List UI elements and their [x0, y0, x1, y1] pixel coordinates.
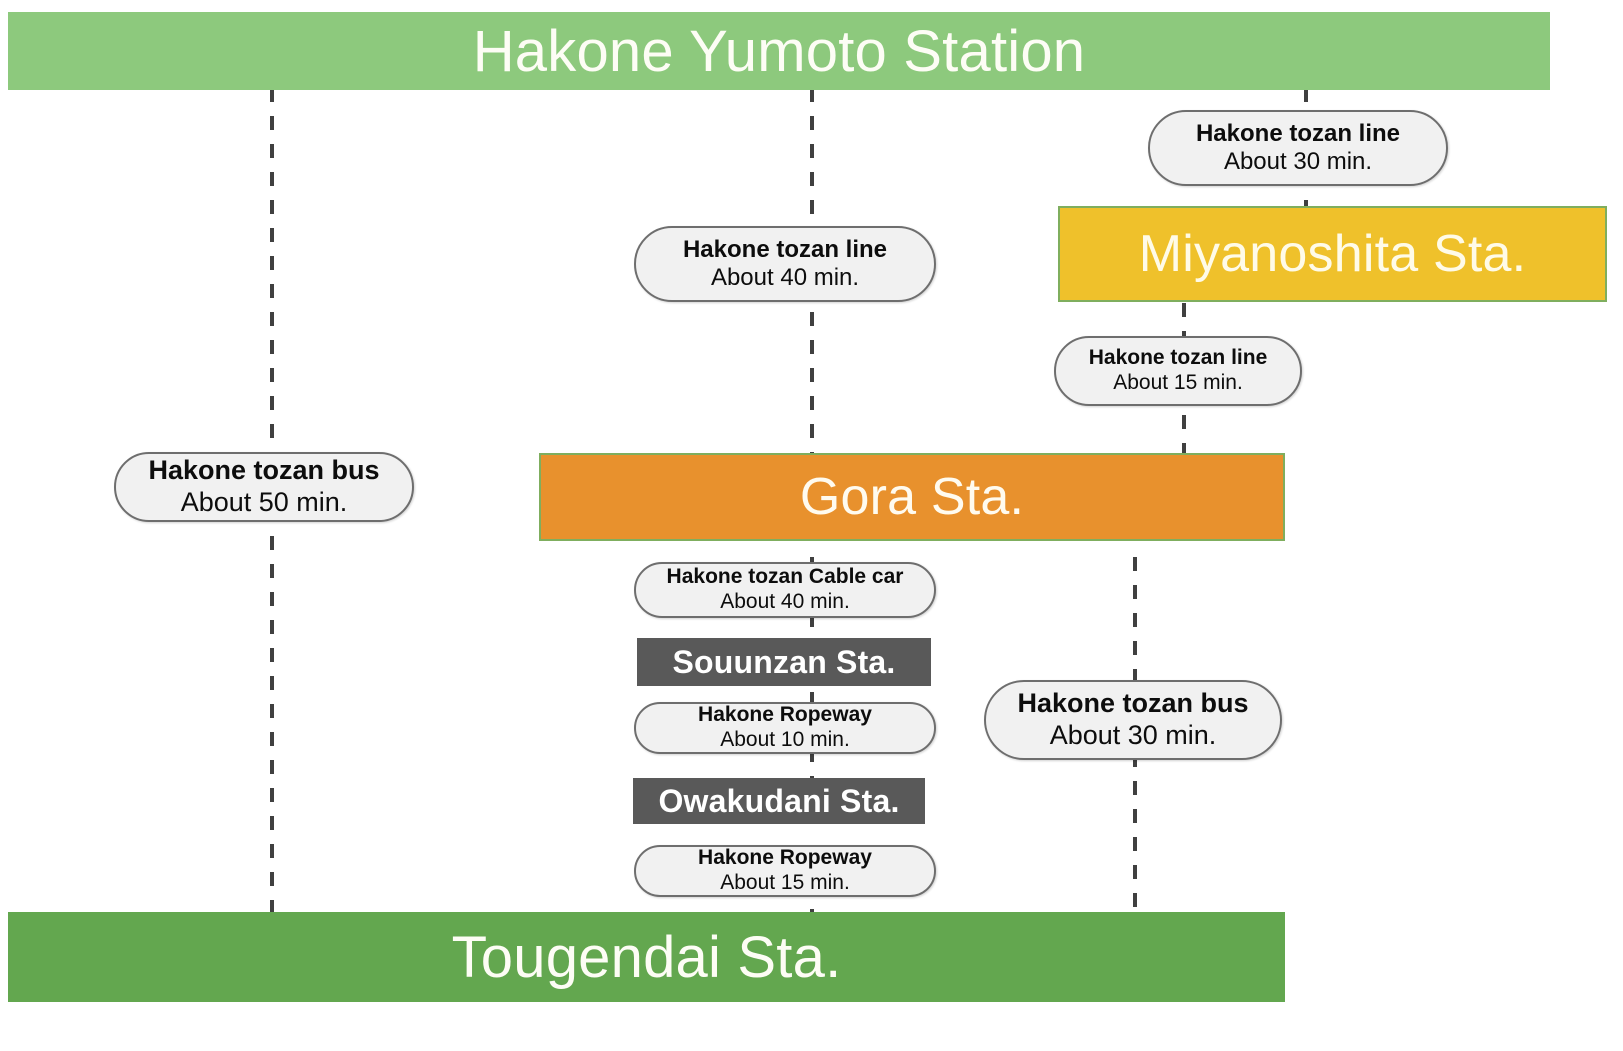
leg-mode-label: Hakone tozan bus — [1017, 688, 1248, 720]
leg-mode-label: Hakone tozan Cable car — [667, 565, 904, 590]
leg-duration-label: About 50 min. — [181, 487, 348, 519]
station-souunzan-label: Souunzan Sta. — [672, 644, 895, 681]
hakone-route-diagram: Hakone Yumoto Station Hakone tozan line … — [0, 0, 1623, 1051]
leg-mode-label: Hakone tozan line — [1196, 120, 1400, 148]
leg-duration-label: About 30 min. — [1050, 720, 1217, 752]
leg-mode-label: Hakone tozan line — [1089, 346, 1268, 371]
leg-line-yumoto-gora[interactable]: Hakone tozan line About 40 min. — [634, 226, 936, 302]
leg-line-miyanoshita-gora[interactable]: Hakone tozan line About 15 min. — [1054, 336, 1302, 406]
station-owakudani-label: Owakudani Sta. — [658, 783, 899, 820]
leg-bus-gora-tougendai[interactable]: Hakone tozan bus About 30 min. — [984, 680, 1282, 760]
leg-mode-label: Hakone tozan line — [683, 236, 887, 264]
leg-bus-yumoto-tougendai[interactable]: Hakone tozan bus About 50 min. — [114, 452, 414, 522]
leg-duration-label: About 15 min. — [720, 871, 850, 896]
leg-duration-label: About 40 min. — [720, 590, 850, 615]
station-tougendai[interactable]: Tougendai Sta. — [8, 912, 1285, 1002]
leg-mode-label: Hakone tozan bus — [148, 455, 379, 487]
station-hakone-yumoto-label: Hakone Yumoto Station — [473, 18, 1086, 85]
station-souunzan[interactable]: Souunzan Sta. — [637, 638, 931, 686]
leg-cable-gora-souunzan[interactable]: Hakone tozan Cable car About 40 min. — [634, 562, 936, 618]
leg-duration-label: About 40 min. — [711, 264, 859, 292]
leg-duration-label: About 10 min. — [720, 728, 850, 753]
leg-line-yumoto-miyanoshita[interactable]: Hakone tozan line About 30 min. — [1148, 110, 1448, 186]
station-gora-label: Gora Sta. — [800, 467, 1024, 527]
station-hakone-yumoto[interactable]: Hakone Yumoto Station — [8, 12, 1550, 90]
station-gora[interactable]: Gora Sta. — [539, 453, 1285, 541]
leg-ropeway-souunzan-owakudani[interactable]: Hakone Ropeway About 10 min. — [634, 702, 936, 754]
leg-duration-label: About 30 min. — [1224, 148, 1372, 176]
station-tougendai-label: Tougendai Sta. — [452, 924, 842, 991]
leg-mode-label: Hakone Ropeway — [698, 703, 872, 728]
station-miyanoshita[interactable]: Miyanoshita Sta. — [1058, 206, 1607, 302]
station-owakudani[interactable]: Owakudani Sta. — [633, 778, 925, 824]
leg-mode-label: Hakone Ropeway — [698, 846, 872, 871]
leg-ropeway-owakudani-tougendai[interactable]: Hakone Ropeway About 15 min. — [634, 845, 936, 897]
leg-duration-label: About 15 min. — [1113, 371, 1243, 396]
station-miyanoshita-label: Miyanoshita Sta. — [1139, 224, 1527, 284]
